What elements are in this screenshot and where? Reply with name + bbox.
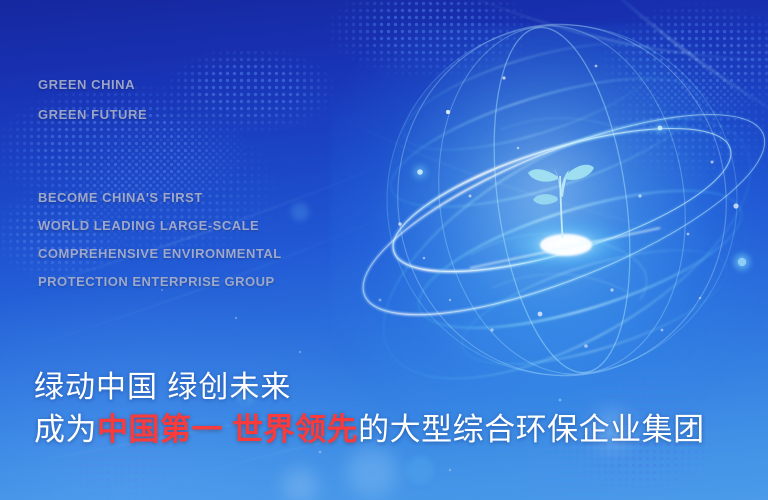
hero-banner: GREEN CHINA GREEN FUTURE BECOME CHINA'S … [0, 0, 768, 500]
orbital-rings [341, 3, 768, 431]
globe-glow [330, 25, 768, 425]
slogan-mid-line-4: PROTECTION ENTERPRISE GROUP [38, 268, 282, 296]
headline-line-2-suffix: 的大型综合环保企业集团 [358, 412, 705, 447]
slogan-top: GREEN CHINA GREEN FUTURE [38, 70, 147, 130]
slogan-mid-line-3: COMPREHENSIVE ENVIRONMENTAL [38, 240, 282, 268]
slogan-mid-line-2: WORLD LEADING LARGE-SCALE [38, 212, 282, 240]
headline-line-2-accent: 中国第一 世界领先 [97, 412, 358, 447]
inner-swirls [470, 118, 647, 300]
headline-line-2-prefix: 成为 [34, 412, 97, 447]
slogan-top-line-2: GREEN FUTURE [38, 100, 147, 130]
globe-sphere [387, 25, 737, 375]
sprout-icon [528, 165, 594, 238]
headline-line-2: 成为中国第一 世界领先的大型综合环保企业集团 [34, 408, 705, 452]
core-burst [470, 210, 660, 285]
headline-line-1: 绿动中国 绿创未来 [34, 368, 705, 408]
slogan-top-line-1: GREEN CHINA [38, 70, 147, 100]
slogan-mid-line-1: BECOME CHINA'S FIRST [38, 184, 282, 212]
slogan-mid: BECOME CHINA'S FIRST WORLD LEADING LARGE… [38, 184, 282, 296]
headline: 绿动中国 绿创未来 成为中国第一 世界领先的大型综合环保企业集团 [34, 368, 705, 452]
